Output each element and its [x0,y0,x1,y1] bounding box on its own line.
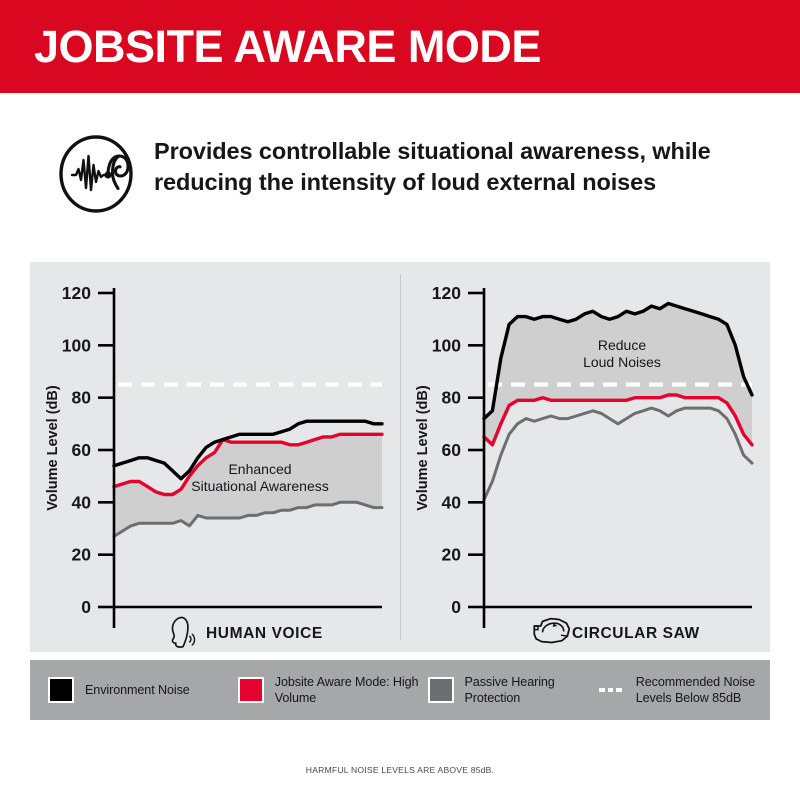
speaking-face-icon [172,617,194,647]
y-tick-label: 0 [81,597,91,617]
circular-saw-icon [534,619,569,643]
legend-swatch-recommended-noise-level [599,686,625,694]
legend-passive-hearing-protection: Passive Hearing Protection [428,674,599,706]
subtitle-text: Provides controllable situational awaren… [154,136,714,199]
page-title: JOBSITE AWARE MODE [34,21,541,73]
dash-segment [608,688,613,692]
infographic-page: JOBSITE AWARE MODE Provides controllable… [0,0,800,800]
y-axis-label-left: Volume Level (dB) [45,385,61,511]
footer-note: HARMFUL NOISE LEVELS ARE ABOVE 85dB. [0,765,800,775]
chart-title-left: HUMAN VOICE [206,625,323,642]
y-tick-label: 100 [432,335,461,355]
y-tick-label: 100 [62,335,91,355]
y-tick-label: 20 [72,545,92,565]
ear-waveform-icon [56,134,136,214]
y-tick-label: 80 [442,388,462,408]
charts-panel: 020406080100120 Volume Level (dB) Enhanc… [30,262,770,652]
y-tick-label: 120 [62,283,91,303]
dash-segment [616,688,621,692]
y-axis-label-right: Volume Level (dB) [415,385,431,511]
y-tick-label: 40 [72,492,92,512]
legend-environment-noise: Environment Noise [48,677,238,703]
legend-label-jobsite-aware-mode: Jobsite Aware Mode: High Volume [275,674,428,706]
series-line [484,408,752,500]
legend-swatch-jobsite-aware-mode [238,677,264,703]
legend-label-environment-noise: Environment Noise [85,682,190,698]
chart-human-voice: 020406080100120 Volume Level (dB) Enhanc… [30,262,400,652]
header-band: JOBSITE AWARE MODE [0,0,800,93]
chart-circular-saw: 020406080100120 Volume Level (dB) Reduce… [400,262,770,652]
y-tick-label: 60 [72,440,92,460]
legend-label-recommended-noise-level: Recommended Noise Levels Below 85dB [636,674,770,706]
y-tick-label: 0 [451,597,461,617]
annotation-right-line2: Loud Noises [583,354,661,370]
legend-swatch-passive-hearing-protection [428,677,454,703]
legend-swatch-environment-noise [48,677,74,703]
legend-jobsite-aware-mode: Jobsite Aware Mode: High Volume [238,674,428,706]
y-tick-label: 60 [442,440,462,460]
y-tick-label: 80 [72,388,92,408]
chart-title-right: CIRCULAR SAW [572,625,700,642]
chart-legend: Environment Noise Jobsite Aware Mode: Hi… [30,660,770,720]
y-tick-label: 120 [432,283,461,303]
legend-recommended-noise-level: Recommended Noise Levels Below 85dB [599,674,770,706]
legend-label-passive-hearing-protection: Passive Hearing Protection [465,674,599,706]
annotation-right-line1: Reduce [598,337,646,353]
y-tick-label: 40 [442,492,462,512]
annotation-left-line1: Enhanced [228,461,291,477]
annotation-left-line2: Situational Awareness [191,478,329,494]
subtitle-row: Provides controllable situational awaren… [0,118,800,228]
y-tick-label: 20 [442,545,462,565]
dash-segment [599,688,605,692]
